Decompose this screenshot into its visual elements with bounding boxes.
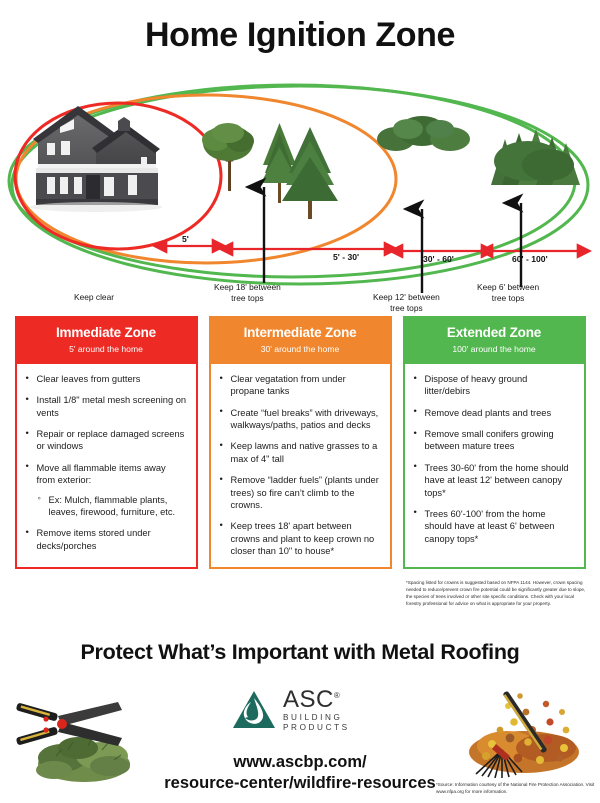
zone-list-extended: Dispose of heavy ground litter/debirs Re…	[412, 373, 575, 545]
list-item-text: Move all flammable items away from exter…	[37, 463, 166, 485]
registered-mark: ®	[334, 691, 340, 700]
zone-header-intermediate: Intermediate Zone 30' around the home	[211, 318, 390, 362]
list-item-text: Remove items stored under decks/porches	[37, 528, 151, 550]
sub-list-item: Ex: Mulch, flammable plants, leaves, fir…	[37, 494, 187, 519]
list-item: Remove “ladder fuels” (plants under tree…	[218, 474, 381, 511]
zone-title-intermediate: Intermediate Zone	[215, 325, 386, 340]
tree-callout-1-line2: tree tops	[373, 303, 440, 314]
list-item: Install 1/8" metal mesh screening on ven…	[24, 394, 187, 419]
list-item-text: Trees 60'-100' from the home should have…	[425, 509, 555, 544]
zone-card-intermediate: Intermediate Zone 30' around the home Cl…	[209, 316, 392, 569]
zone-diagram-svg	[0, 61, 600, 301]
promo-headline: Protect What’s Important with Metal Roof…	[0, 640, 600, 665]
logo-subline-building: BUILDING	[283, 714, 350, 722]
list-item-text: Install 1/8" metal mesh screening on ven…	[37, 395, 187, 417]
zone-header-extended: Extended Zone 100' around the home	[405, 318, 584, 362]
asc-name: ASC	[283, 686, 334, 713]
asc-logo: ASC® BUILDING PRODUCTS	[232, 688, 350, 732]
list-item: Remove items stored under decks/porches	[24, 527, 187, 552]
url-line-1[interactable]: www.ascbp.com/	[0, 752, 600, 773]
tree-callout-0-line1: Keep 18' between	[214, 282, 281, 293]
tree-callout-1-line1: Keep 12' between	[373, 292, 440, 303]
tree-callout-2-line2: tree tops	[477, 293, 539, 304]
list-item: Trees 30-60' from the home should have a…	[412, 462, 575, 499]
tree-callout-0-line2: tree tops	[214, 293, 281, 304]
zone-body-immediate: Clear leaves from gutters Install 1/8" m…	[17, 362, 196, 562]
zone-title-extended: Extended Zone	[409, 325, 580, 340]
dimension-label-1: 5' - 30'	[333, 252, 359, 262]
logo-subline-products: PRODUCTS	[283, 724, 350, 732]
list-item: Clear vegatation from under propane tank…	[218, 373, 381, 398]
list-item: Trees 60'-100' from the home should have…	[412, 508, 575, 545]
zone-list-immediate: Clear leaves from gutters Install 1/8" m…	[24, 373, 187, 552]
zone-card-immediate: Immediate Zone 5' around the home Clear …	[15, 316, 198, 569]
list-item-text: Keep trees 18' apart between crowns and …	[231, 521, 375, 556]
list-item: Keep trees 18' apart between crowns and …	[218, 520, 381, 557]
tree-callout-2-line1: Keep 6' between	[477, 282, 539, 293]
zone-title-immediate: Immediate Zone	[21, 325, 192, 340]
list-item: Create “fuel breaks” with driveways, wal…	[218, 407, 381, 432]
zone-subtitle-extended: 100' around the home	[409, 344, 580, 354]
mature-tree-grove	[377, 116, 470, 191]
list-item-text: Keep lawns and native grasses to a max o…	[231, 441, 378, 463]
list-item-text: Remove small conifers growing between ma…	[425, 429, 554, 451]
dimension-arrows	[166, 246, 578, 251]
list-item: Move all flammable items away from exter…	[24, 462, 187, 518]
list-item: Remove small conifers growing between ma…	[412, 428, 575, 453]
zone-cards: Immediate Zone 5' around the home Clear …	[0, 316, 600, 569]
page-title: Home Ignition Zone	[0, 0, 600, 55]
list-item-text: Clear leaves from gutters	[37, 374, 141, 384]
list-item-text: Repair or replace damaged screens or win…	[37, 429, 185, 451]
house-keep-clear-label: Keep clear	[74, 292, 114, 303]
list-item-text: Dispose of heavy ground litter/debirs	[425, 374, 528, 396]
conifer-tree-large	[282, 127, 338, 219]
zone-body-extended: Dispose of heavy ground litter/debirs Re…	[405, 362, 584, 555]
zone-subtitle-immediate: 5' around the home	[21, 344, 192, 354]
crown-spacing-footnote: *Spacing listed for crowns is suggested …	[406, 580, 586, 608]
dimension-label-2: 30' - 60'	[423, 254, 454, 264]
zone-body-intermediate: Clear vegatation from under propane tank…	[211, 362, 390, 567]
dimension-label-3: 60' - 100'	[512, 254, 548, 264]
nfpa-source-note: *Source: Information courtesy of the Nat…	[436, 782, 596, 796]
list-item-text: Create “fuel breaks” with driveways, wal…	[231, 408, 379, 430]
list-item: Keep lawns and native grasses to a max o…	[218, 440, 381, 465]
zone-list-intermediate: Clear vegatation from under propane tank…	[218, 373, 381, 557]
home-ignition-zone-diagram: 5' 5' - 30' 30' - 60' 60' - 100' Keep cl…	[0, 61, 600, 301]
list-item-text: Clear vegatation from under propane tank…	[231, 374, 346, 396]
tree-callout-1: Keep 12' between tree tops	[373, 292, 440, 313]
asc-logo-text: ASC® BUILDING PRODUCTS	[283, 688, 350, 732]
broadleaf-tree	[202, 123, 254, 191]
zone-subtitle-intermediate: 30' around the home	[215, 344, 386, 354]
list-item: Dispose of heavy ground litter/debirs	[412, 373, 575, 398]
list-item-text: Remove dead plants and trees	[425, 408, 552, 418]
list-item-text: Trees 30-60' from the home should have a…	[425, 463, 569, 498]
asc-wordmark: ASC®	[283, 688, 350, 712]
dimension-label-0: 5'	[182, 234, 189, 244]
tree-callout-0: Keep 18' between tree tops	[214, 282, 281, 303]
list-item-text: Remove “ladder fuels” (plants under tree…	[231, 475, 379, 510]
list-item: Repair or replace damaged screens or win…	[24, 428, 187, 453]
zone-header-immediate: Immediate Zone 5' around the home	[17, 318, 196, 362]
zone-sublist-immediate: Ex: Mulch, flammable plants, leaves, fir…	[37, 494, 187, 519]
list-item: Clear leaves from gutters	[24, 373, 187, 385]
asc-triangle-logo-icon	[232, 689, 276, 731]
zone-card-extended: Extended Zone 100' around the home Dispo…	[403, 316, 586, 569]
conifer-stand	[491, 129, 580, 185]
tree-callout-2: Keep 6' between tree tops	[477, 282, 539, 303]
list-item: Remove dead plants and trees	[412, 407, 575, 419]
